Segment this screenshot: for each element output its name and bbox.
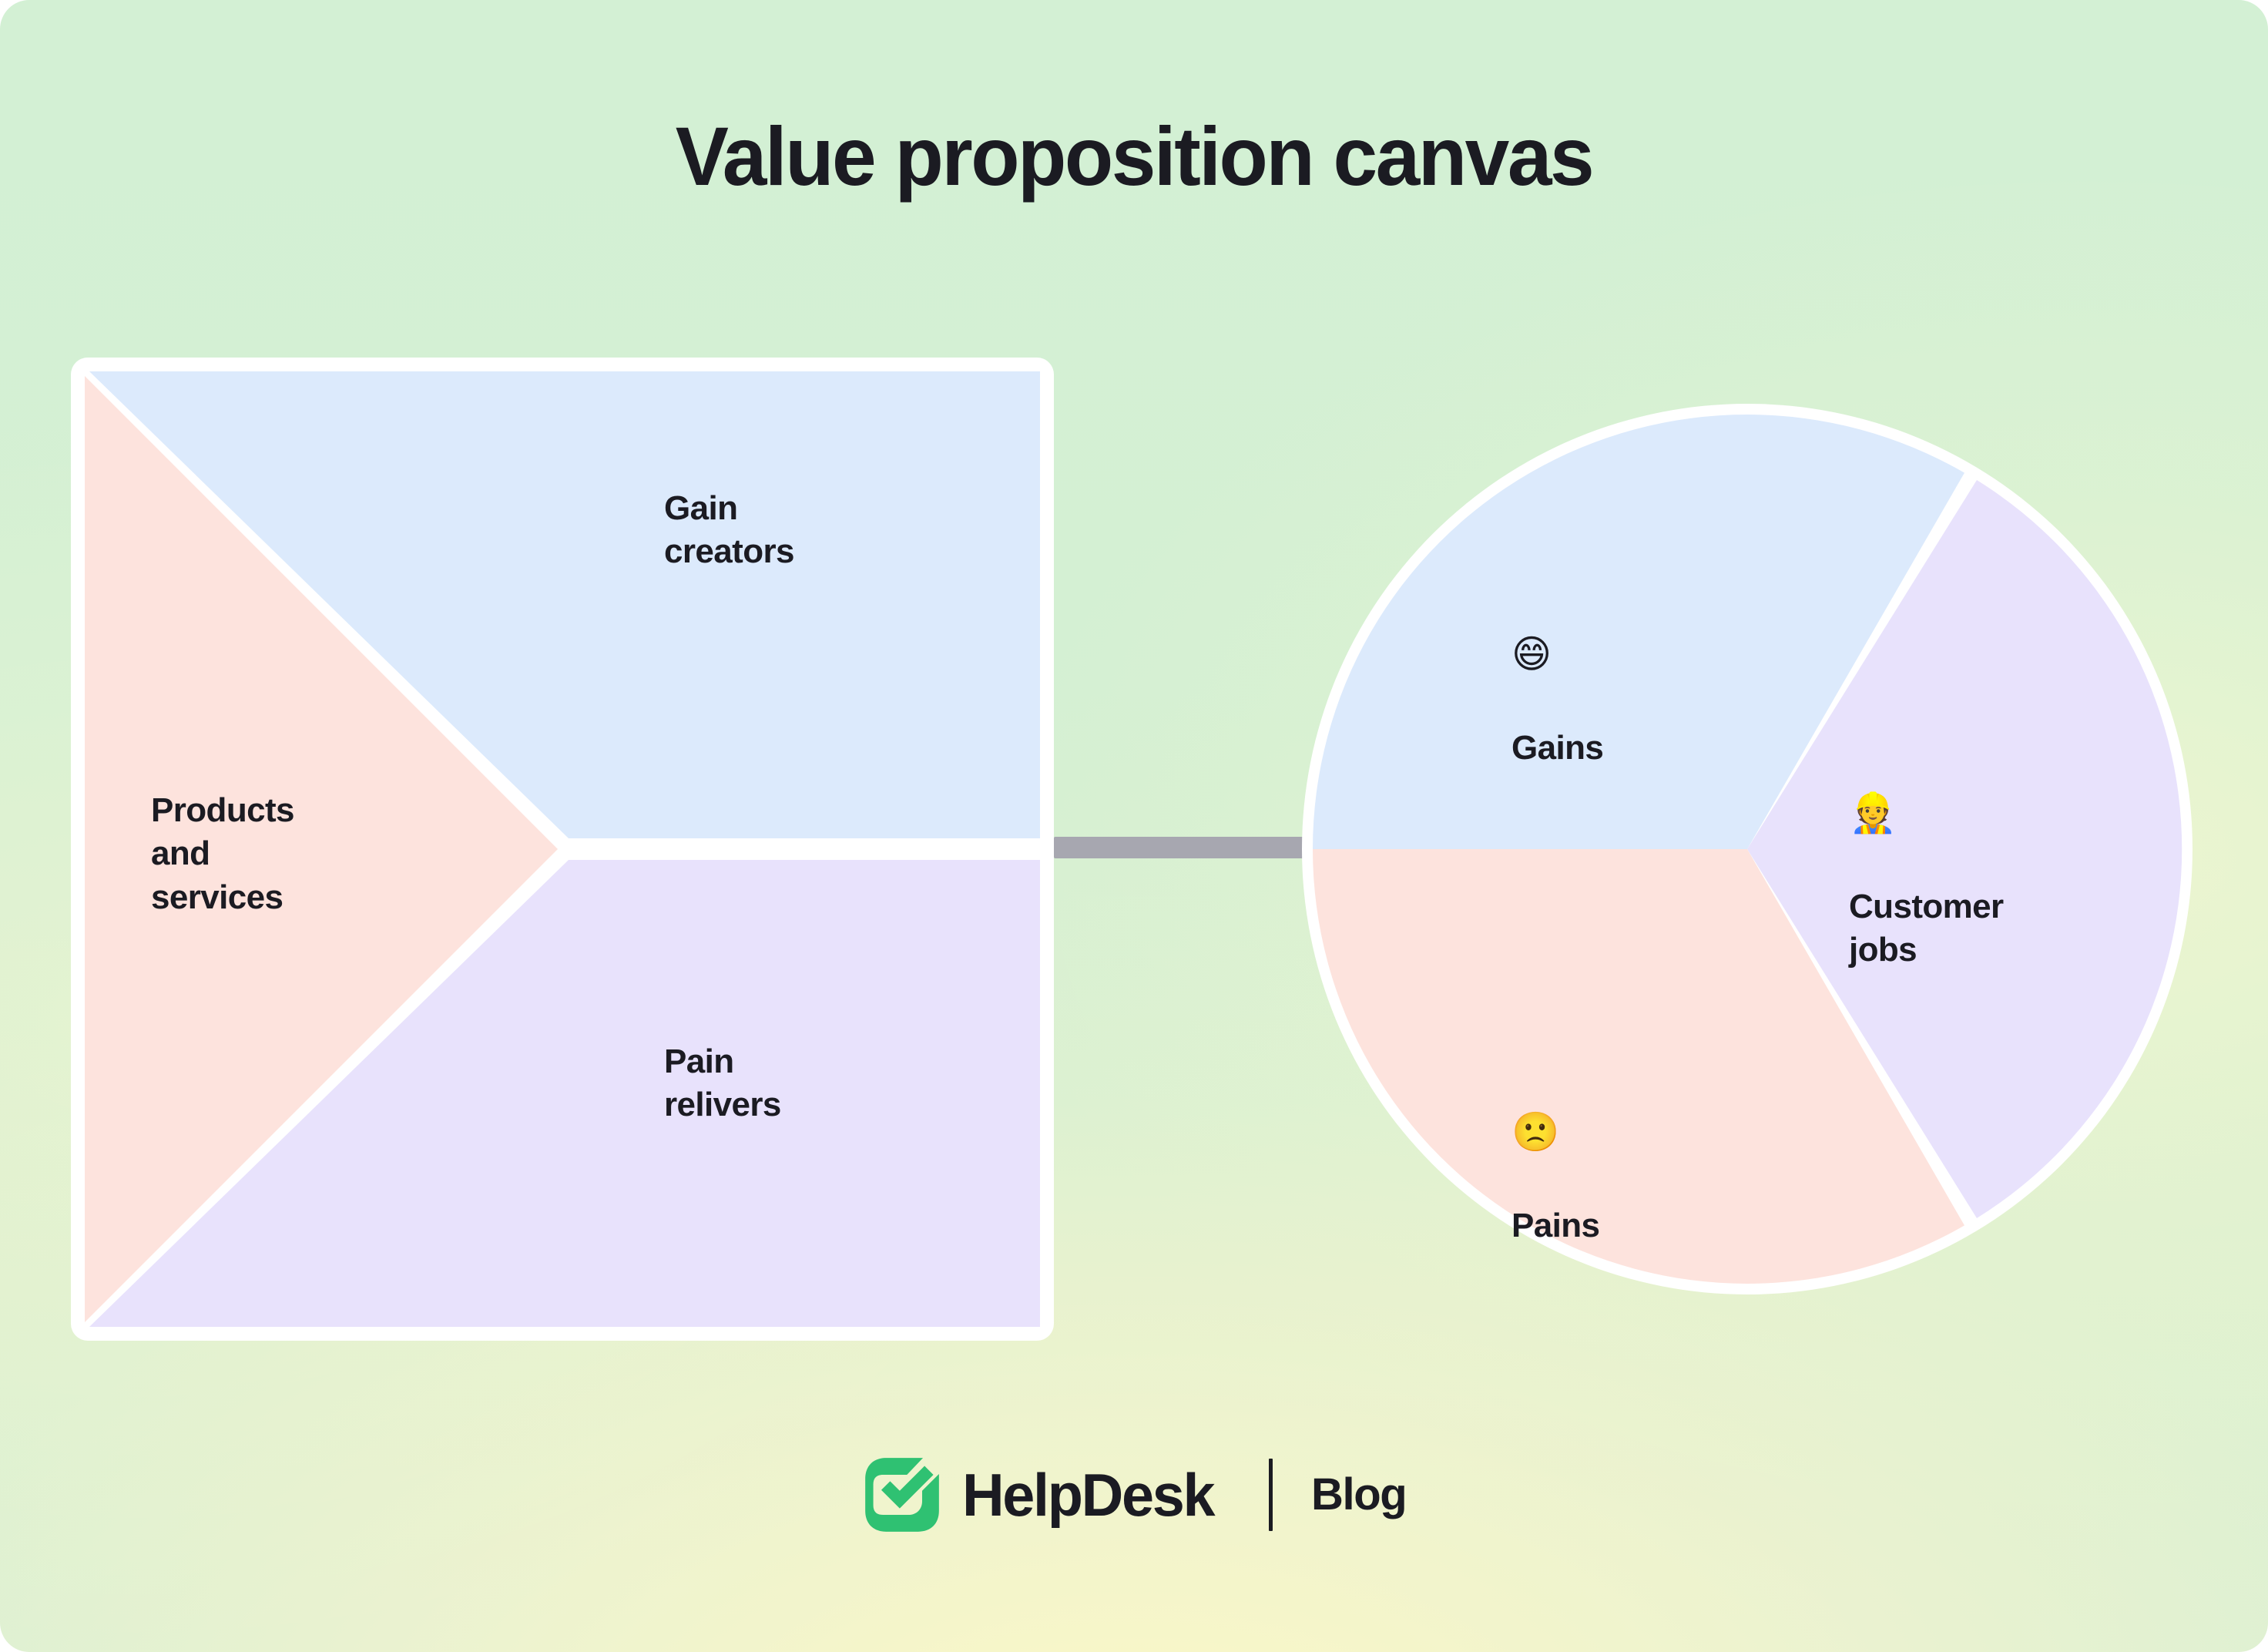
value-map-label-gain-creators: Gain creators (664, 487, 941, 574)
customer-profile-label-customer-jobs-text: Customer jobs (1849, 888, 2004, 969)
brand-wordmark: HelpDesk (962, 1465, 1213, 1525)
customer-profile-label-pains: 🙁 Pains (1511, 1069, 1766, 1247)
value-map-label-products-and-services: Products and services (151, 789, 405, 919)
connector-bar (1054, 837, 1308, 858)
poster-canvas: Value proposition canvas Products and se… (0, 0, 2268, 1652)
construction-worker-icon: 👷 (1849, 794, 2103, 832)
customer-profile-diagram: 😄 Gains 👷 Customer jobs 🙁 Pains (1300, 402, 2194, 1296)
footer-section-label: Blog (1311, 1472, 1406, 1517)
footer-brand-bar: HelpDesk Blog (0, 1435, 2268, 1555)
grinning-face-with-smiling-eyes-icon: 😄 (1511, 635, 1766, 673)
value-map-diagram: Products and services Gain creators Pain… (71, 358, 1054, 1341)
customer-profile-label-gains-text: Gains (1511, 729, 1603, 767)
customer-profile-label-gains: 😄 Gains (1511, 592, 1766, 770)
customer-profile-label-pains-text: Pains (1511, 1207, 1599, 1244)
customer-profile-label-customer-jobs: 👷 Customer jobs (1849, 750, 2103, 972)
slightly-frowning-face-icon: 🙁 (1511, 1113, 1766, 1151)
page-title: Value proposition canvas (45, 112, 2223, 200)
helpdesk-checkmark-logo-icon (862, 1455, 942, 1535)
value-map-label-pain-relivers: Pain relivers (664, 1040, 941, 1127)
footer-divider (1269, 1459, 1273, 1531)
